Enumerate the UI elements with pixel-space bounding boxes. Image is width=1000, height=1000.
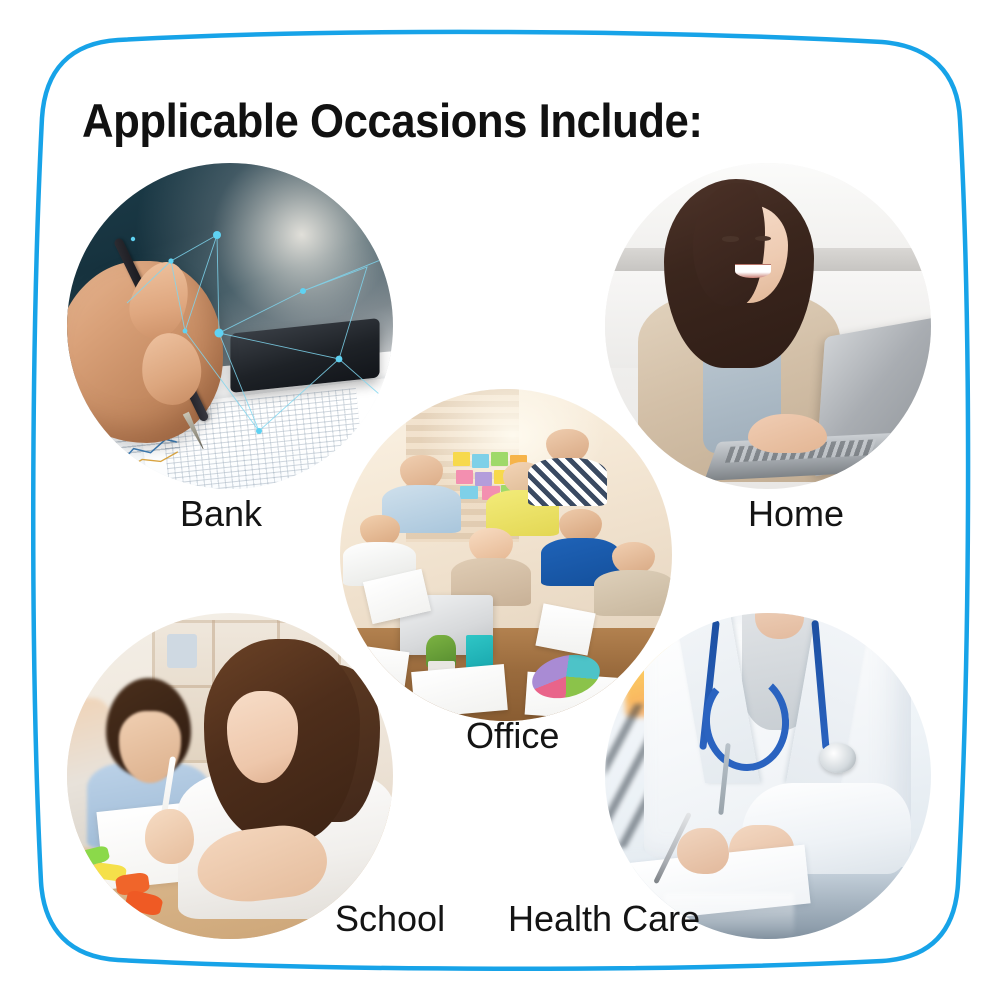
occasion-label-bank: Bank (180, 493, 262, 535)
home-woman-eye-right (755, 236, 771, 241)
doctor-hand-writing (677, 828, 729, 874)
office-person-seated-center (469, 528, 512, 601)
occasion-label-office: Office (466, 715, 559, 757)
occasion-label-health-care: Health Care (508, 898, 700, 940)
office-person-seated-far-right (612, 542, 655, 612)
occasion-tile-school[interactable]: School (67, 613, 393, 939)
occasion-label-school: School (335, 898, 445, 940)
stethoscope-chestpiece (820, 743, 856, 772)
home-woman-eye-left (722, 236, 738, 241)
occasion-tile-health-care[interactable]: Health Care (605, 613, 931, 939)
office-person-seated-right (559, 509, 602, 582)
office-person-standing-left (400, 455, 443, 528)
office-person-seated-left (360, 515, 400, 581)
home-woman-hands (748, 414, 826, 453)
school-girl-hand (145, 809, 194, 864)
office-person-standing-right (546, 429, 589, 502)
school-photo (67, 613, 393, 939)
poster-canvas: Applicable Occasions Include: (0, 0, 1000, 1000)
page-title: Applicable Occasions Include: (82, 93, 702, 148)
office-document-chart (411, 664, 508, 718)
health-care-photo (605, 613, 931, 939)
occasion-label-home: Home (748, 493, 844, 535)
